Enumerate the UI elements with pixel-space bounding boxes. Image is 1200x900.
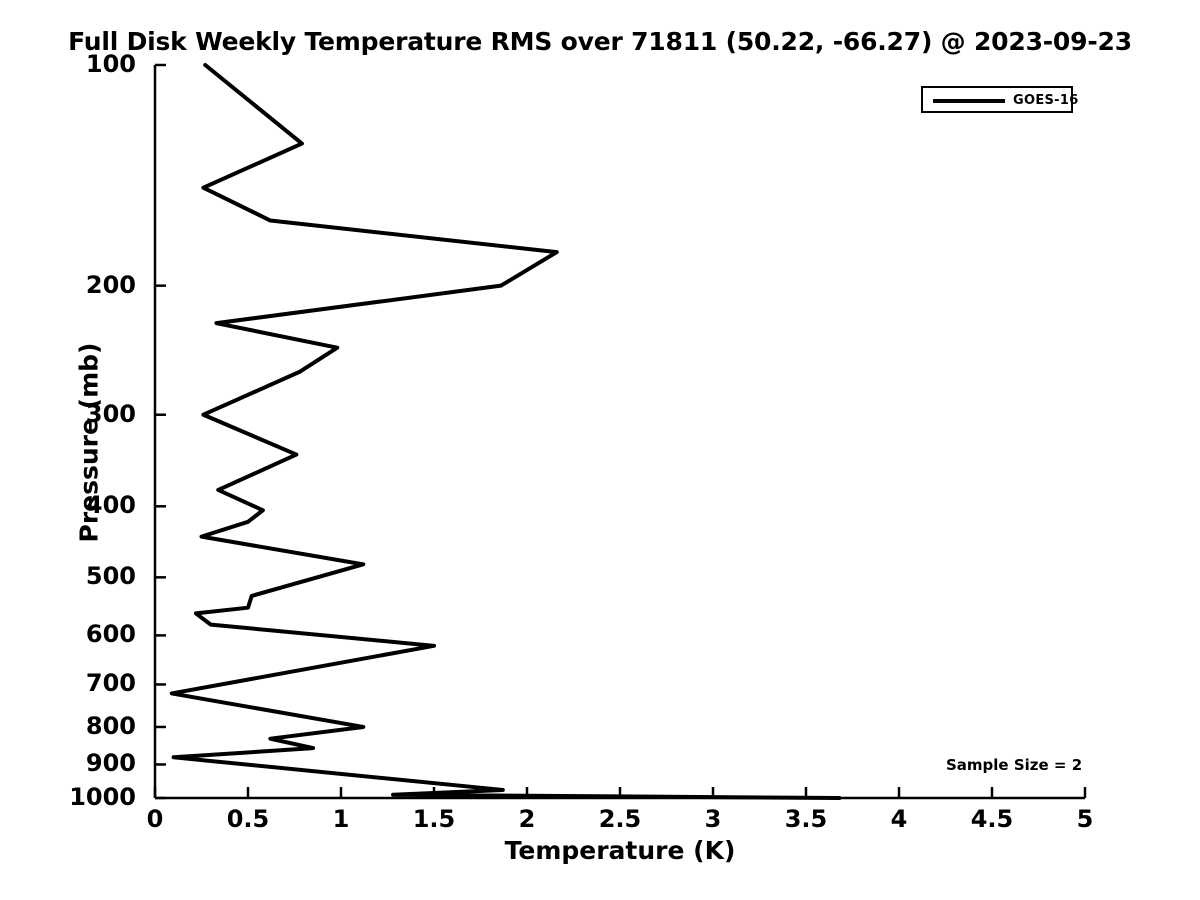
y-tick-label: 500 (0, 562, 136, 590)
y-tick-label: 300 (0, 400, 136, 428)
legend-label-goes-16: GOES-16 (1013, 93, 1079, 108)
y-tick-label: 800 (0, 712, 136, 740)
legend-swatch-goes-16 (933, 99, 1005, 103)
y-tick-label: 600 (0, 620, 136, 648)
x-axis-title: Temperature (K) (155, 836, 1085, 865)
series-line-goes-16 (172, 65, 840, 798)
y-tick-label: 1000 (0, 783, 136, 811)
figure-panel: Full Disk Weekly Temperature RMS over 71… (0, 0, 1200, 900)
y-axis-title: Pressure (mb) (75, 73, 104, 813)
x-tick-label: 1.5 (394, 805, 474, 833)
x-tick-label: 4 (859, 805, 939, 833)
x-tick-label: 1 (301, 805, 381, 833)
axes-frame (155, 65, 1085, 798)
y-tick-label: 900 (0, 749, 136, 777)
sample-size-annotation: Sample Size = 2 (946, 756, 1082, 774)
data-series-group (172, 65, 840, 798)
y-axis-ticks (155, 65, 166, 798)
x-tick-label: 4.5 (952, 805, 1032, 833)
y-tick-label: 100 (0, 50, 136, 78)
y-tick-label: 200 (0, 271, 136, 299)
x-tick-label: 3.5 (766, 805, 846, 833)
x-tick-label: 2 (487, 805, 567, 833)
x-tick-label: 2.5 (580, 805, 660, 833)
x-tick-label: 3 (673, 805, 753, 833)
x-tick-label: 5 (1045, 805, 1125, 833)
y-tick-label: 700 (0, 669, 136, 697)
legend: GOES-16 (921, 86, 1073, 113)
x-tick-label: 0.5 (208, 805, 288, 833)
y-tick-label: 400 (0, 491, 136, 519)
